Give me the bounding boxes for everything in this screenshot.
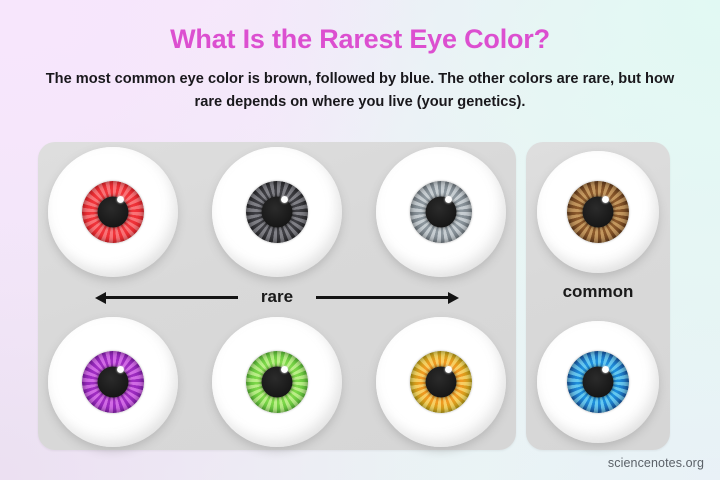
eye-black-iris xyxy=(246,181,308,243)
eye-gray-iris xyxy=(410,181,472,243)
eye-brown xyxy=(537,151,659,273)
eye-purple-highlight xyxy=(117,366,124,373)
eye-hazel-pupil xyxy=(426,367,457,398)
page-title: What Is the Rarest Eye Color? xyxy=(0,24,720,55)
eye-green-pupil xyxy=(262,367,293,398)
eye-black-pupil xyxy=(262,197,293,228)
eye-red xyxy=(48,147,178,277)
rare-label: rare xyxy=(247,287,307,307)
eye-gray-highlight xyxy=(445,196,452,203)
arrow-right-icon xyxy=(307,290,459,304)
eye-blue-pupil xyxy=(583,367,614,398)
rare-scale-row: rare xyxy=(38,282,516,312)
eye-purple-pupil xyxy=(98,367,129,398)
infographic-canvas: What Is the Rarest Eye Color? The most c… xyxy=(0,0,720,480)
eye-red-iris xyxy=(82,181,144,243)
eye-purple xyxy=(48,317,178,447)
eye-green-highlight xyxy=(281,366,288,373)
arrow-left-icon xyxy=(95,290,247,304)
eye-red-highlight xyxy=(117,196,124,203)
eye-hazel-iris xyxy=(410,351,472,413)
eye-blue-iris xyxy=(567,351,629,413)
common-label: common xyxy=(526,282,670,302)
eye-blue xyxy=(537,321,659,443)
eye-hazel-highlight xyxy=(445,366,452,373)
page-subtitle: The most common eye color is brown, foll… xyxy=(36,68,684,114)
eye-black-highlight xyxy=(281,196,288,203)
eye-brown-iris xyxy=(567,181,629,243)
eye-blue-highlight xyxy=(602,366,609,373)
eye-brown-highlight xyxy=(602,196,609,203)
eye-purple-iris xyxy=(82,351,144,413)
eye-black xyxy=(212,147,342,277)
eye-gray-pupil xyxy=(426,197,457,228)
eye-brown-pupil xyxy=(583,197,614,228)
eye-green-iris xyxy=(246,351,308,413)
eye-green xyxy=(212,317,342,447)
source-watermark: sciencenotes.org xyxy=(608,456,704,470)
eye-red-pupil xyxy=(98,197,129,228)
eye-hazel xyxy=(376,317,506,447)
eye-gray xyxy=(376,147,506,277)
